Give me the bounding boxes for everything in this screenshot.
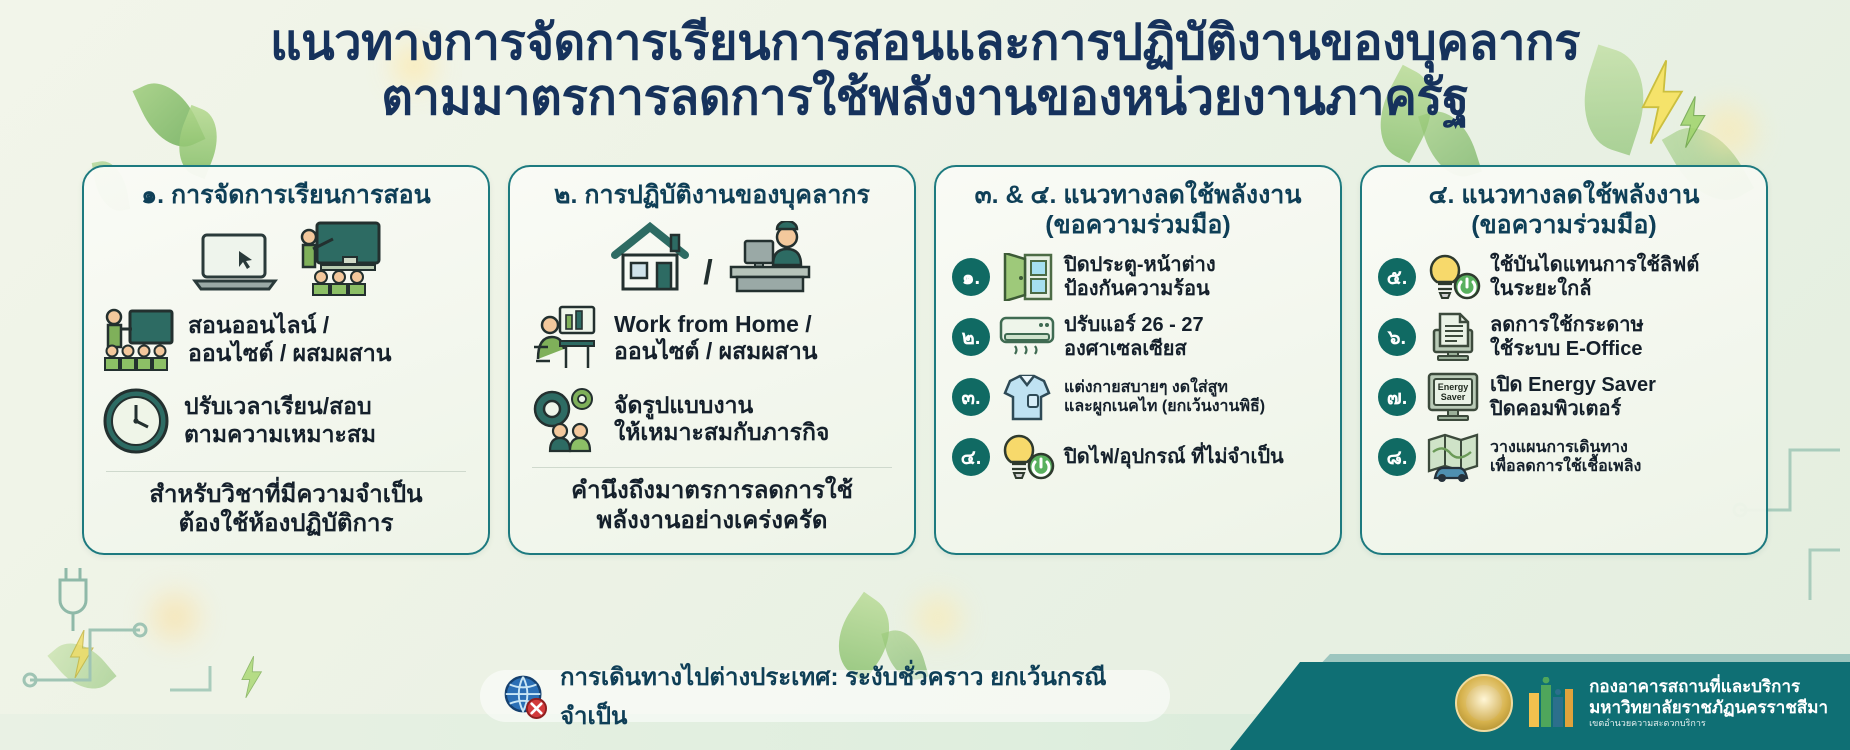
card2-footnote: คำนึงถึงมาตรการลดการใช้ พลังงานอย่างเคร่… [526,476,898,541]
card-energy-guidelines-b[interactable]: ๔. แนวทางลดใช้พลังงาน (ขอความร่วมมือ) ๕. [1360,165,1768,555]
item-number-badge: ๓. [952,378,990,416]
text-line: ให้เหมาะสมกับภารกิจ [614,419,829,447]
logo-line-3: เขตอำนวยความสะดวกบริการ [1589,718,1828,729]
desk-work-icon [526,303,602,373]
svg-text:Saver: Saver [1441,392,1466,402]
card2-row-2-text: จัดรูปแบบงาน ให้เหมาะสมกับภารกิจ [614,392,829,447]
card1-row-2-text: ปรับเวลาเรียน/สอบ ตามความเหมาะสม [184,393,376,448]
text-line: ใช้บันไดแทนการใช้ลิฟต์ [1490,253,1699,277]
item-number-badge: ๑. [952,258,990,296]
text-line: ปรับเวลาเรียน/สอบ [184,393,376,421]
teacher-presentation-icon [100,307,176,373]
list-item[interactable]: ๔. ปิดไฟ/อุปกรณ์ ที่ไม่จำเป็น [952,432,1324,482]
air-conditioner-icon [999,312,1055,362]
card2-hero-icons: / [526,221,898,294]
text-line: จัดรูปแบบงาน [614,392,829,420]
card4-item-list: ๕. ใช้บันไดแทนการใช้ลิฟต์ ในระยะใกล้ [1378,252,1750,482]
card1-row-2: ปรับเวลาเรียน/สอบ ตามความเหมาะสม [100,385,472,457]
logo-text: กองอาคารสถานที่และบริการ มหาวิทยาลัยราชภ… [1589,677,1828,729]
logo-line-2: มหาวิทยาลัยราชภัฏนครราชสีมา [1589,698,1828,718]
map-car-icon [1425,432,1481,482]
energy-saver-monitor-icon: Energy Saver [1425,372,1481,422]
card2-row-1: Work from Home / ออนไซต์ / ผสมผสาน [526,303,898,373]
item-text: ลดการใช้กระดาษ ใช้ระบบ E-Office [1490,313,1644,361]
text-line: องศาเซลเซียส [1064,337,1204,361]
item-text: แต่งกายสบายๆ งดใส่สูท และผูกเนคไท (ยกเว้… [1064,378,1265,416]
slash-separator: / [701,254,714,293]
card1-row-1: สอนออนไลน์ / ออนไซต์ / ผสมผสาน [100,307,472,373]
text-line: สำหรับวิชาที่มีความจำเป็น [100,480,472,509]
text-line: เพื่อลดการใช้เชื้อเพลิง [1490,457,1641,476]
card-energy-guidelines-a[interactable]: ๓. & ๔. แนวทางลดใช้พลังงาน (ขอความร่วมมื… [934,165,1342,555]
text-line: และผูกเนคไท (ยกเว้นงานพิธี) [1064,397,1265,416]
item-text: ปรับแอร์ 26 - 27 องศาเซลเซียส [1064,313,1204,361]
laptop-icon [189,229,281,297]
text-line: ปิดคอมพิวเตอร์ [1490,397,1656,421]
text-line: ตามความเหมาะสม [184,421,376,449]
gears-people-icon [526,385,602,453]
card-title: ๔. แนวทางลดใช้พลังงาน (ขอความร่วมมือ) [1378,181,1750,240]
plug-circuit-icon [20,560,280,710]
item-number-badge: ๗. [1378,378,1416,416]
card1-hero-icons [100,221,472,297]
light-bulb-power-icon [999,432,1055,482]
title-line-2: ตามมาตรการลดการใช้พลังงานของหน่วยงานภาคร… [0,71,1850,126]
text-line: ปรับแอร์ 26 - 27 [1064,313,1204,337]
page-title: แนวทางการจัดการเรียนการสอนและการปฏิบัติง… [0,16,1850,126]
text-line: Work from Home / [614,311,817,339]
text-line: ออนไซต์ / ผสมผสาน [614,338,817,366]
title-line-1: แนวทางการจัดการเรียนการสอนและการปฏิบัติง… [0,16,1850,71]
item-number-badge: ๒. [952,318,990,356]
light-bulb-power-icon [1425,252,1481,302]
card2-row-1-text: Work from Home / ออนไซต์ / ผสมผสาน [614,311,817,366]
text-line: ปิดไฟ/อุปกรณ์ ที่ไม่จำเป็น [1064,445,1284,469]
cards-row: ๑. การจัดการเรียนการสอน [82,165,1768,555]
clock-icon [100,385,172,457]
card-subtitle: (ขอความร่วมมือ) [952,211,1324,241]
lightning-bolt-icon [238,656,264,698]
divider [532,467,892,468]
card-title-main: ๔. แนวทางลดใช้พลังงาน [1429,181,1700,209]
text-line: ในระยะใกล้ [1490,277,1699,301]
logo-line-1: กองอาคารสถานที่และบริการ [1589,677,1828,697]
card-staff-operations[interactable]: ๒. การปฏิบัติงานของบุคลากร / [508,165,916,555]
footer-notice-text: การเดินทางไปต่างประเทศ: ระงับชั่วคราว ยก… [560,657,1148,735]
building-service-mark-icon [1523,677,1579,729]
item-number-badge: ๘. [1378,438,1416,476]
polo-shirt-icon [999,372,1055,422]
item-text: ใช้บันไดแทนการใช้ลิฟต์ ในระยะใกล้ [1490,253,1699,301]
list-item[interactable]: ๖. ลดการใช้กระดาษ ใช้ระบบ E-Office [1378,312,1750,362]
card2-row-2: จัดรูปแบบงาน ให้เหมาะสมกับภารกิจ [526,385,898,453]
card-title: ๒. การปฏิบัติงานของบุคลากร [526,181,898,211]
leaf-icon [47,630,116,702]
document-monitor-icon [1425,312,1481,362]
text-line: ออนไซต์ / ผสมผสาน [188,340,391,368]
house-icon [609,221,691,293]
lightning-bolt-icon [66,630,96,678]
glow [152,594,198,640]
text-line: วางแผนการเดินทาง [1490,438,1641,457]
item-text: ปิดประตู-หน้าต่าง ป้องกันความร้อน [1064,253,1216,301]
item-number-badge: ๖. [1378,318,1416,356]
globe-blocked-icon [502,672,548,720]
footer-notice: การเดินทางไปต่างประเทศ: ระงับชั่วคราว ยก… [480,670,1170,722]
list-item[interactable]: ๗. Energy Saver เปิด Energy Saver ปิดคอม… [1378,372,1750,422]
card-title: ๓. & ๔. แนวทางลดใช้พลังงาน (ขอความร่วมมื… [952,181,1324,240]
card-subtitle: (ขอความร่วมมือ) [1378,211,1750,241]
text-line: ต้องใช้ห้องปฏิบัติการ [100,509,472,538]
item-text: วางแผนการเดินทาง เพื่อลดการใช้เชื้อเพลิง [1490,438,1641,476]
text-line: ปิดประตู-หน้าต่าง [1064,253,1216,277]
list-item[interactable]: ๕. ใช้บันไดแทนการใช้ลิฟต์ ในระยะใกล้ [1378,252,1750,302]
open-door-window-icon [999,252,1055,302]
list-item[interactable]: ๑. ปิดประตู-หน้าต่าง ป้องกันความร้อน [952,252,1324,302]
card1-row-1-text: สอนออนไลน์ / ออนไซต์ / ผสมผสาน [188,312,391,367]
organization-logo: กองอาคารสถานที่และบริการ มหาวิทยาลัยราชภ… [1455,674,1828,732]
item-number-badge: ๕. [1378,258,1416,296]
office-desk-worker-icon [725,221,815,293]
card-title-main: ๓. & ๔. แนวทางลดใช้พลังงาน [975,181,1302,209]
card1-footnote: สำหรับวิชาที่มีความจำเป็น ต้องใช้ห้องปฏิ… [100,480,472,545]
list-item[interactable]: ๓. แต่งกายสบายๆ งดใส่สูท และผูกเนคไท (ยก… [952,372,1324,422]
item-text: เปิด Energy Saver ปิดคอมพิวเตอร์ [1490,373,1656,421]
text-line: พลังงานอย่างเคร่งครัด [526,506,898,535]
text-line: ใช้ระบบ E-Office [1490,337,1644,361]
item-text: ปิดไฟ/อุปกรณ์ ที่ไม่จำเป็น [1064,445,1284,469]
glow [916,596,960,640]
svg-text:Energy: Energy [1438,382,1469,392]
card3-item-list: ๑. ปิดประตู-หน้าต่าง ป้องกันความร้อน [952,252,1324,482]
text-line: เปิด Energy Saver [1490,373,1656,397]
item-number-badge: ๔. [952,438,990,476]
divider [106,471,466,472]
text-line: ป้องกันความร้อน [1064,277,1216,301]
classroom-blackboard-icon [291,221,383,297]
card-teaching-management[interactable]: ๑. การจัดการเรียนการสอน [82,165,490,555]
university-seal-icon [1455,674,1513,732]
list-item[interactable]: ๒. ปรับแอร์ 26 - 27 องศาเซลเซียส [952,312,1324,362]
text-line: แต่งกายสบายๆ งดใส่สูท [1064,378,1265,397]
text-line: คำนึงถึงมาตรการลดการใช้ [526,476,898,505]
list-item[interactable]: ๘. วางแผนการเดินทาง เพื่อลดการใช้เชื้อเพ… [1378,432,1750,482]
card-title: ๑. การจัดการเรียนการสอน [100,181,472,211]
text-line: ลดการใช้กระดาษ [1490,313,1644,337]
text-line: สอนออนไลน์ / [188,312,391,340]
